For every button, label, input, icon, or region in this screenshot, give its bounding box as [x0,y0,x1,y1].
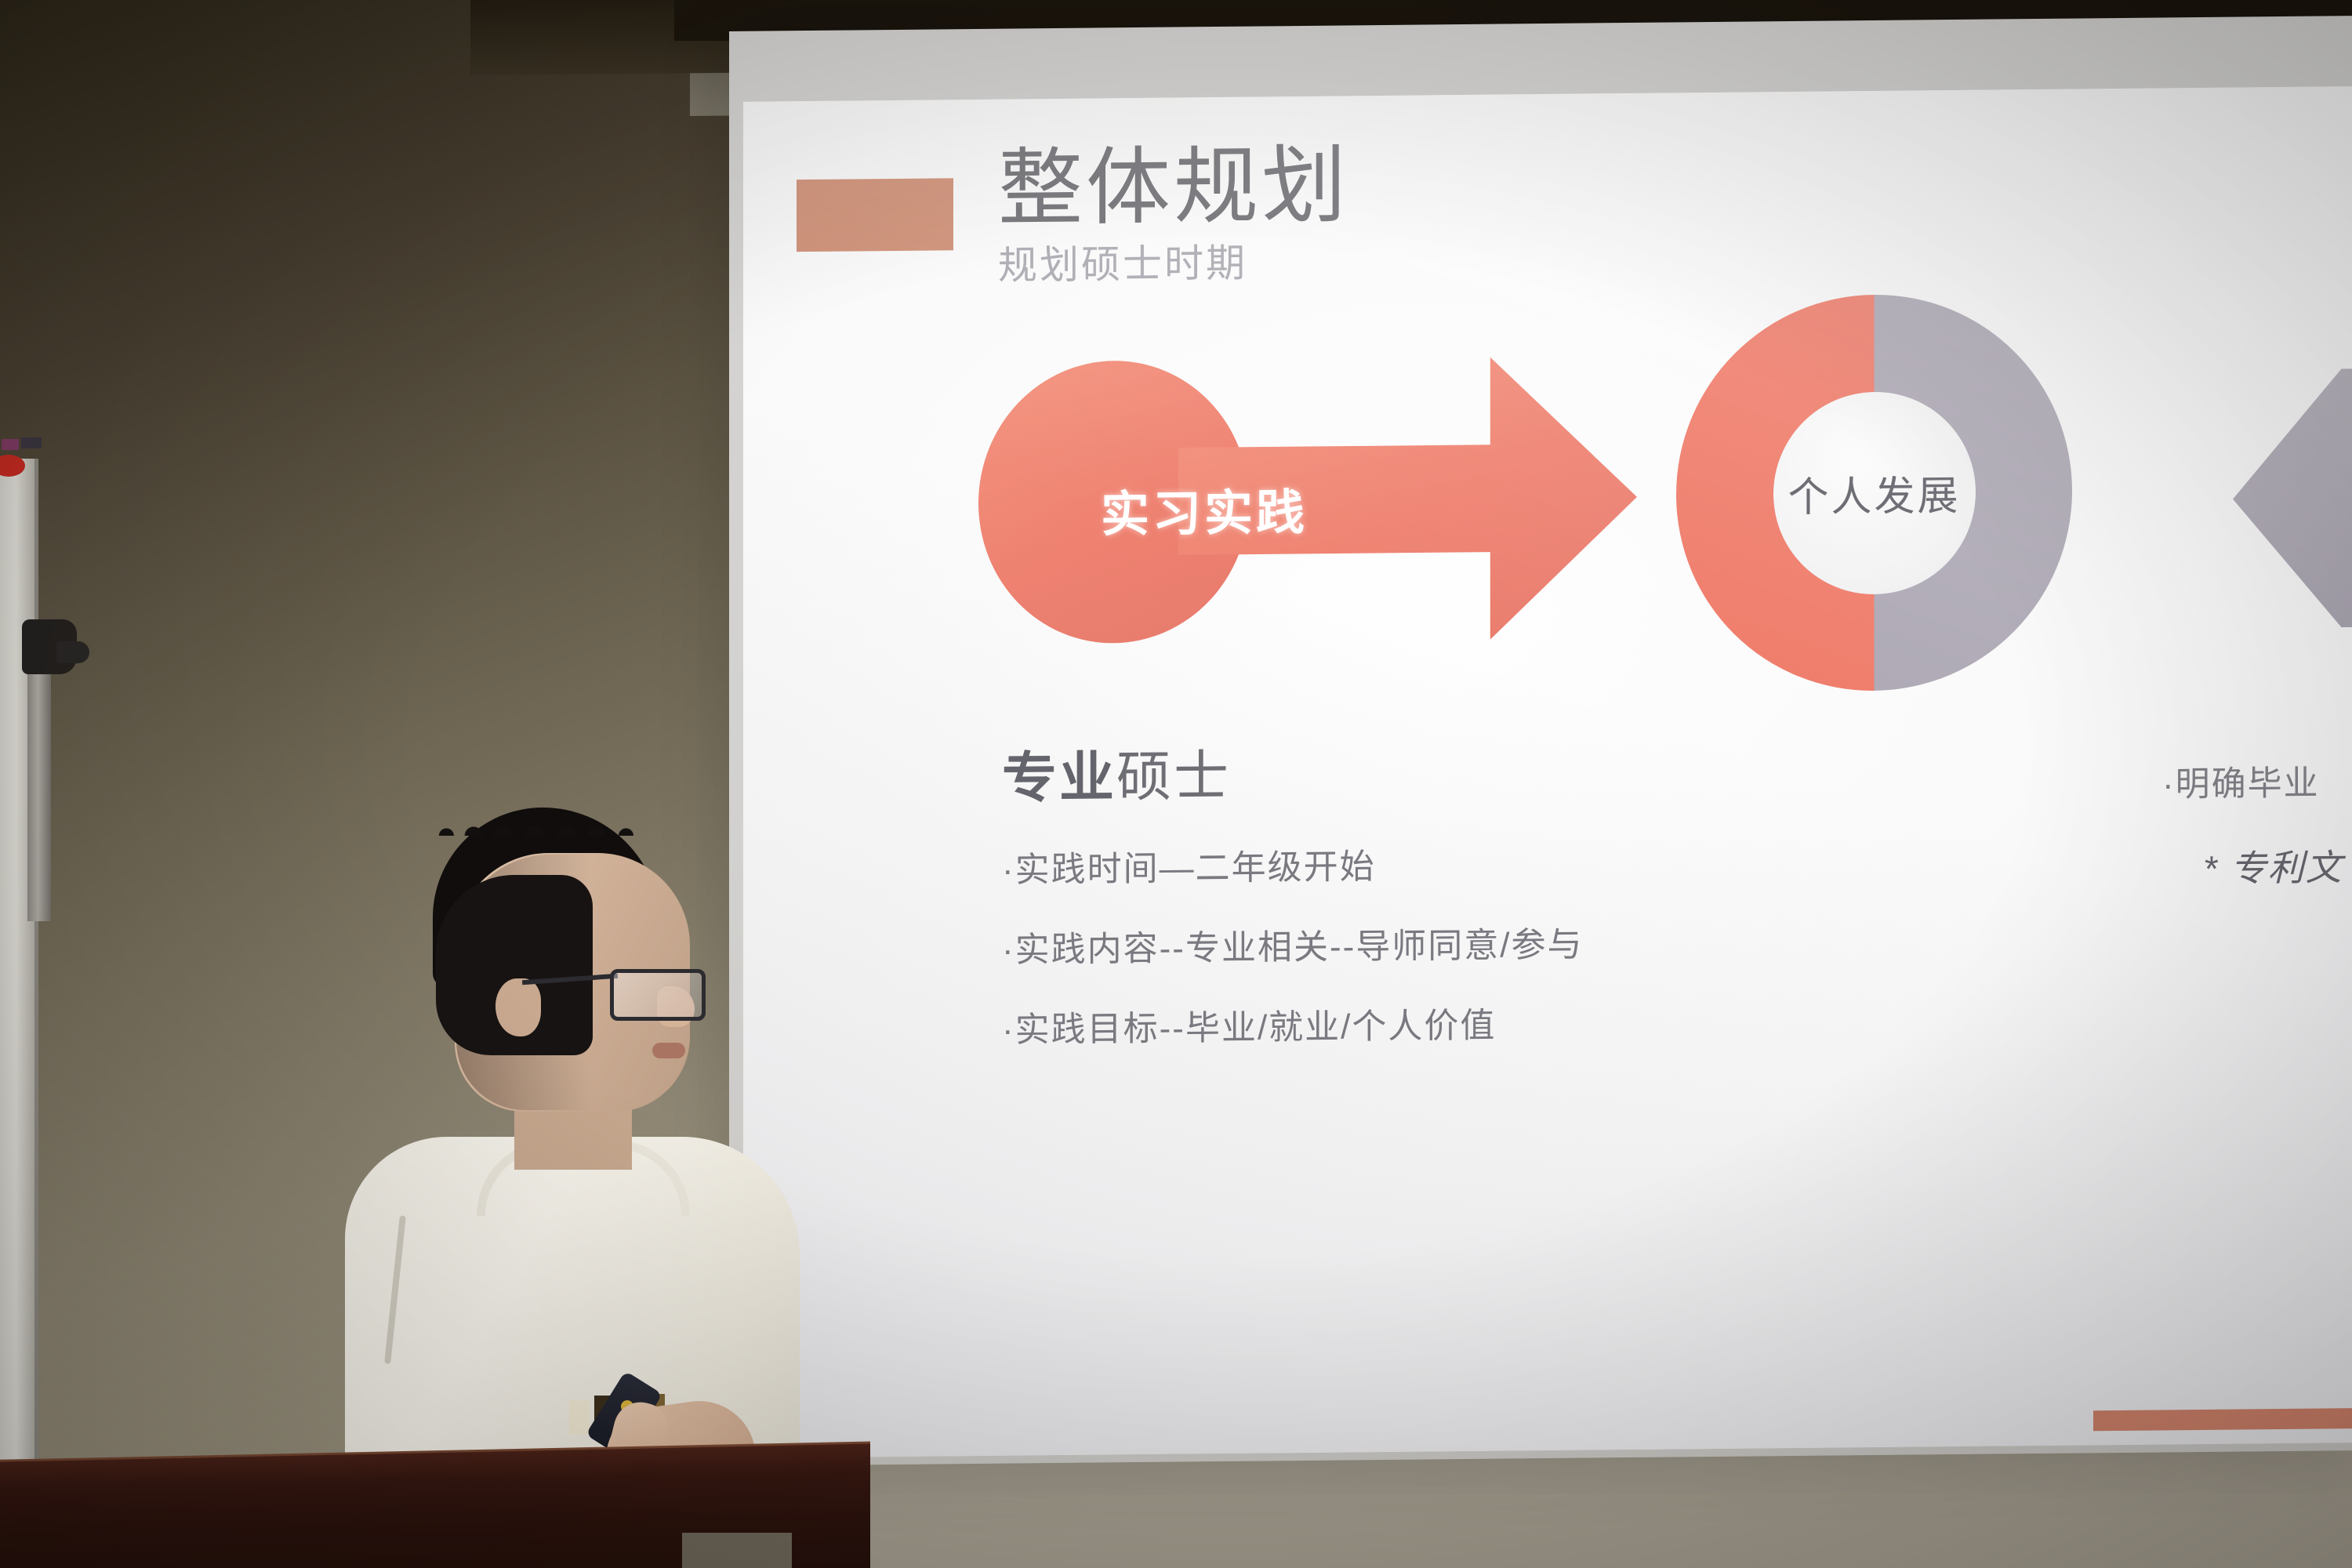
slide-subtitle: 规划硕士时期 [998,231,1349,291]
slide-title: 整体规划 [998,141,1349,233]
donut-center: 个人发展 [1773,390,1976,594]
whiteboard-edge [0,459,38,1494]
presentation-slide: 整体规划 规划硕士时期 实习实践 个人发展 [743,86,2352,1458]
heading-bold-part: 专业 [1002,746,1116,808]
heading-rest-part: 硕士 [1116,746,1231,808]
right-text-column: ·明确毕业 * 专利文 [2162,752,2352,892]
podium-side-gap [682,1533,792,1568]
projection-screen: 整体规划 规划硕士时期 实习实践 个人发展 [729,16,2352,1466]
right-note-line: * 专利文 [2203,837,2352,891]
bullet-line: ·实践目标--毕业/就业/个人价值 [1002,994,1755,1051]
arrow-label: 实习实践 [1040,472,1369,546]
glasses-lens [610,969,706,1021]
slide-title-block: 整体规划 规划硕士时期 [998,141,1349,291]
stand-clamp-arm [56,641,89,663]
photo-scene: 整体规划 规划硕士时期 实习实践 个人发展 [0,0,2352,1568]
arrow-callout: 实习实践 [978,356,1637,644]
bullet-line: ·实践内容--专业相关--导师同意/参与 [1002,914,1755,971]
presenter-hair-spikes [433,798,660,836]
bullet-line: ·实践时间—二年级开始 [1002,834,1755,891]
stand-pole [27,662,51,921]
chevron-left-icon [2233,367,2352,628]
donut-chart: 个人发展 [1676,293,2072,693]
title-accent-swatch [797,178,953,252]
left-text-column: 专业硕士 ·实践时间—二年级开始 ·实践内容--专业相关--导师同意/参与 ·实… [1002,727,1755,1081]
right-bullet-line: ·明确毕业 [2162,752,2352,806]
whiteboard-marker-purple [2,439,19,450]
whiteboard-marker-black [21,437,42,448]
presenter-ear [495,978,541,1036]
slide-bottom-accent-bar [2093,1408,2352,1431]
presenter-lips [652,1043,685,1058]
left-column-heading: 专业硕士 [1002,727,1755,813]
screen-surface: 整体规划 规划硕士时期 实习实践 个人发展 [729,16,2352,1466]
donut-center-label: 个人发展 [1788,463,1960,523]
